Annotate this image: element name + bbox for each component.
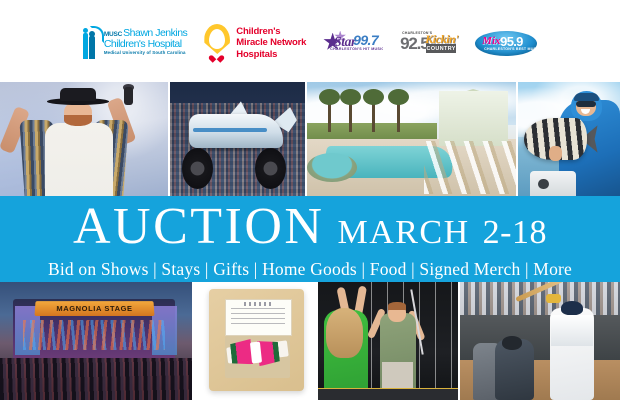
cmn-line3: Hospitals: [236, 49, 306, 61]
magnolia-stage-sign-text: MAGNOLIA STAGE: [56, 304, 133, 313]
photo-row-bottom: MAGNOLIA STAGE Outdoor music festival cr…: [0, 282, 620, 400]
cmn-line2: Miracle Network: [236, 37, 306, 49]
star-tagline: CHARLESTON'S HIT MUSIC STATION: [330, 47, 383, 51]
auction-subtitle: Bid on Shows | Stays | Gifts | Home Good…: [48, 259, 572, 280]
mix-tagline: CHARLESTON'S BEST MUSIC MIX: [484, 47, 548, 51]
cmn-line1: Children's: [236, 26, 306, 38]
photo-magnolia-stage: MAGNOLIA STAGE Outdoor music festival cr…: [0, 282, 194, 400]
kickin-country-label: COUNTRY: [426, 44, 456, 53]
auction-promo-poster: MUSC Shawn Jenkins Children's Hospital M…: [0, 0, 620, 400]
logo-musc-shawn-jenkins-childrens-hospital: MUSC Shawn Jenkins Children's Hospital M…: [83, 26, 187, 60]
star-frequency: 99.7: [353, 32, 378, 48]
sponsor-logo-bar: MUSC Shawn Jenkins Children's Hospital M…: [0, 0, 620, 82]
logo-childrens-miracle-network-hospitals: Children's Miracle Network Hospitals: [204, 24, 306, 62]
auction-dates: 2-18: [483, 216, 547, 250]
shawn-jenkins-line2: Children's Hospital: [104, 39, 187, 50]
photo-bow-tie-gift-box: Pink and green bow tie in a wooden prese…: [194, 282, 318, 400]
musc-tagline: Medical University of South Carolina: [104, 51, 187, 55]
mix-wordmark: Mix: [482, 35, 500, 47]
photo-row-top: Country music performer in black hat sin…: [0, 82, 620, 196]
photo-baseball-batter: Baseball player swinging the bat at home…: [460, 282, 620, 400]
logo-mix-95-9: Mix 95.9 CHARLESTON'S BEST MUSIC MIX: [475, 31, 537, 56]
balloon-heart-icon: [204, 24, 230, 62]
photo-resort-pool: Resort swimming pool and hot tub with lo…: [307, 82, 518, 196]
logo-kickin-country-92-5: CHARLESTON'S 92.5 Kickin' COUNTRY: [400, 29, 458, 57]
auction-banner: AUCTION MARCH 2-18 Bid on Shows | Stays …: [0, 196, 620, 282]
photo-monster-truck: Shark-themed monster truck jumping in fr…: [170, 82, 307, 196]
auction-month: MARCH: [337, 216, 469, 250]
photo-fishing-catch: Angler in a blue hoodie holding a stripe…: [518, 82, 620, 196]
auction-word: AUCTION: [73, 201, 324, 253]
photo-celebration: Two people cheering with arms raised at …: [318, 282, 460, 400]
photo-concert-performer: Country music performer in black hat sin…: [0, 82, 170, 196]
logo-star-99-7: Star 99.7 CHARLESTON'S HIT MUSIC STATION: [323, 30, 383, 57]
magnolia-stage-sign: MAGNOLIA STAGE: [34, 301, 154, 316]
musc-children-figures-icon: [83, 26, 100, 60]
auction-headline: AUCTION MARCH 2-18: [73, 201, 547, 253]
